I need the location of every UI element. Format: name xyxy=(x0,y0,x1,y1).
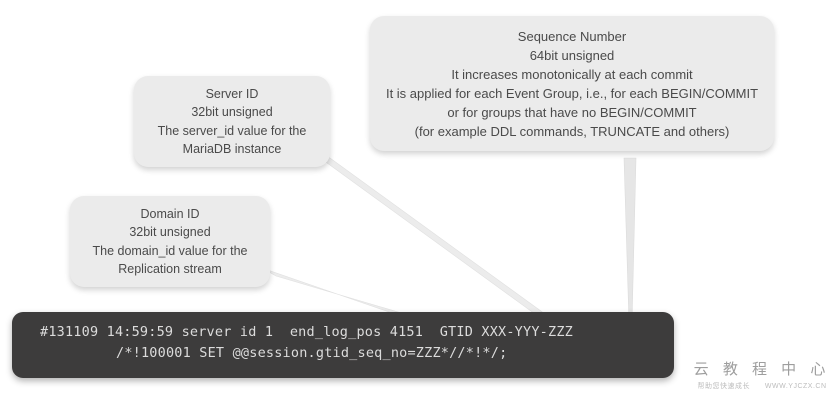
server-callout-line-4: MariaDB instance xyxy=(148,140,316,158)
watermark-sub-left: 帮助您快速成长 xyxy=(697,381,750,391)
watermark-subtitle: 帮助您快速成长 WWW.YJCZX.CN xyxy=(688,381,836,391)
domain-callout-line-3: The domain_id value for the xyxy=(84,242,256,260)
sequence-callout-line-2: 64bit unsigned xyxy=(384,47,760,66)
watermark-title: 云 教 程 中 心 xyxy=(688,358,836,379)
sequence-callout-line-1: Sequence Number xyxy=(384,28,760,47)
sequence-number-callout: Sequence Number 64bit unsigned It increa… xyxy=(370,16,774,151)
server-callout-line-3: The server_id value for the xyxy=(148,122,316,140)
server-callout-line-2: 32bit unsigned xyxy=(148,103,316,121)
sequence-callout-line-3: It increases monotonically at each commi… xyxy=(384,66,760,85)
sequence-callout-line-4: It is applied for each Event Group, i.e.… xyxy=(384,85,760,104)
code-line-1: #131109 14:59:59 server id 1 end_log_pos… xyxy=(12,322,674,343)
domain-callout-line-1: Domain ID xyxy=(84,205,256,223)
domain-id-callout: Domain ID 32bit unsigned The domain_id v… xyxy=(70,196,270,287)
sequence-callout-line-6: (for example DDL commands, TRUNCATE and … xyxy=(384,123,760,142)
server-id-callout-tail xyxy=(312,152,556,322)
sequence-callout-line-5: or for groups that have no BEGIN/COMMIT xyxy=(384,104,760,123)
slide-canvas: Sequence Number 64bit unsigned It increa… xyxy=(0,0,836,400)
watermark: 云 教 程 中 心 帮助您快速成长 WWW.YJCZX.CN xyxy=(688,358,836,391)
server-callout-line-1: Server ID xyxy=(148,85,316,103)
sequence-callout-tail xyxy=(624,158,636,322)
binlog-code-block: #131109 14:59:59 server id 1 end_log_pos… xyxy=(12,312,674,378)
server-id-callout: Server ID 32bit unsigned The server_id v… xyxy=(134,76,330,167)
domain-callout-line-4: Replication stream xyxy=(84,260,256,278)
watermark-sub-right: WWW.YJCZX.CN xyxy=(765,383,827,390)
code-line-2: /*!100001 SET @@session.gtid_seq_no=ZZZ*… xyxy=(12,343,674,364)
domain-callout-line-2: 32bit unsigned xyxy=(84,223,256,241)
